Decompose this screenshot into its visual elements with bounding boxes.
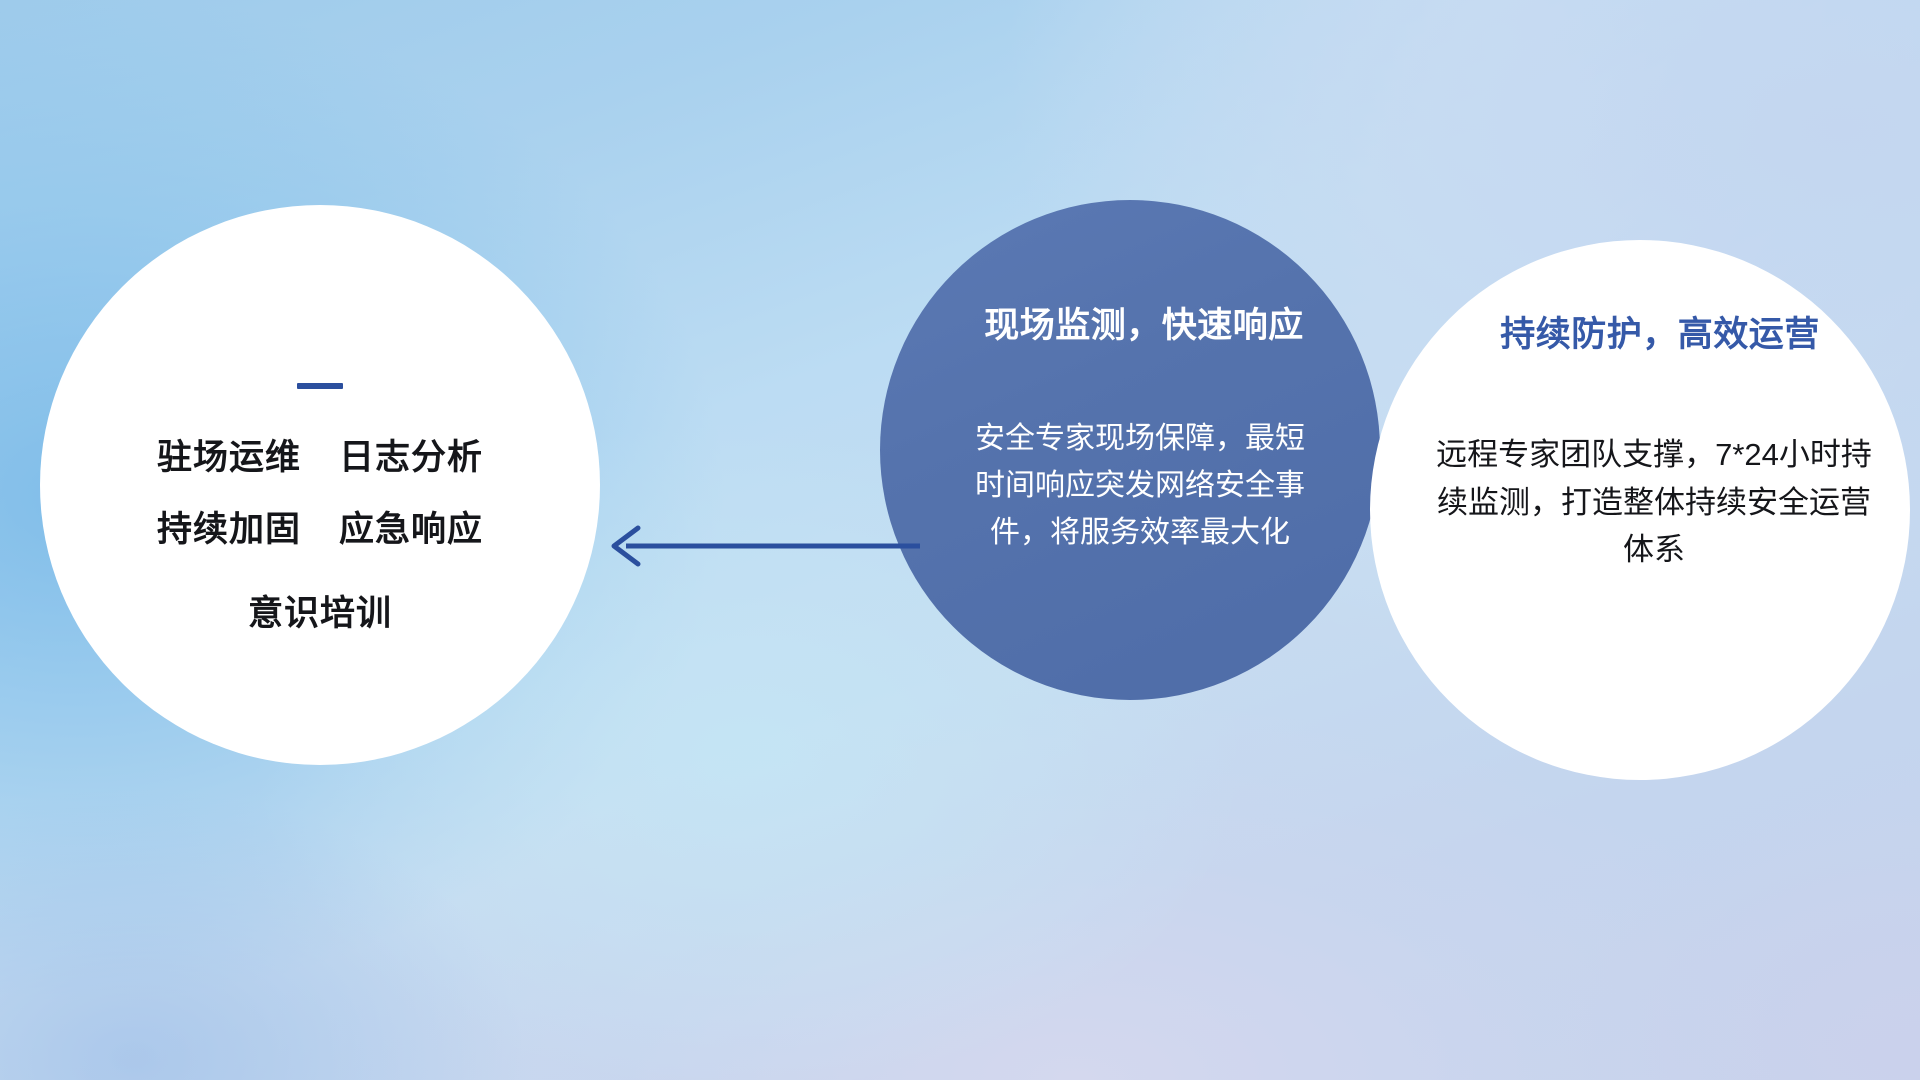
- right-circle-content: 持续防护，高效运营 远程专家团队支撑，7*24小时持续监测，打造整体持续安全运营…: [1370, 240, 1910, 780]
- slide-canvas: 驻场运维 日志分析 持续加固 应急响应 意识培训: [0, 0, 1920, 1080]
- middle-circle-content: 现场监测，快速响应 安全专家现场保障，最短时间响应突发网络安全事件，将服务效率最…: [880, 200, 1380, 700]
- right-circle-description: 远程专家团队支撑，7*24小时持续监测，打造整体持续安全运营体系: [1434, 431, 1874, 574]
- capability-tag-row: 持续加固 应急响应: [157, 509, 483, 551]
- capability-tag: 持续加固: [157, 509, 301, 551]
- capability-circle-middle: 现场监测，快速响应 安全专家现场保障，最短时间响应突发网络安全事件，将服务效率最…: [880, 200, 1380, 700]
- middle-circle-description: 安全专家现场保障，最短时间响应突发网络安全事件，将服务效率最大化: [975, 416, 1305, 556]
- arrow-left-icon: [590, 515, 920, 577]
- left-circle-content: 驻场运维 日志分析 持续加固 应急响应 意识培训: [40, 205, 600, 765]
- middle-circle-title: 现场监测，快速响应: [984, 297, 1304, 348]
- capability-tag: 意识培训: [248, 593, 392, 635]
- capability-tag: 应急响应: [339, 509, 483, 551]
- capability-tag-row: 意识培训: [248, 593, 392, 635]
- capability-tag: 日志分析: [339, 437, 483, 479]
- divider-dash-icon: [297, 383, 343, 389]
- capability-circle-right: 持续防护，高效运营 远程专家团队支撑，7*24小时持续监测，打造整体持续安全运营…: [1370, 240, 1910, 780]
- capability-tag: 驻场运维: [157, 437, 301, 479]
- capability-circle-left: 驻场运维 日志分析 持续加固 应急响应 意识培训: [40, 205, 600, 765]
- capability-tag-list: 驻场运维 日志分析 持续加固 应急响应 意识培训: [157, 437, 483, 635]
- capability-tag-row: 驻场运维 日志分析: [157, 437, 483, 479]
- right-circle-title: 持续防护，高效运营: [1500, 306, 1820, 357]
